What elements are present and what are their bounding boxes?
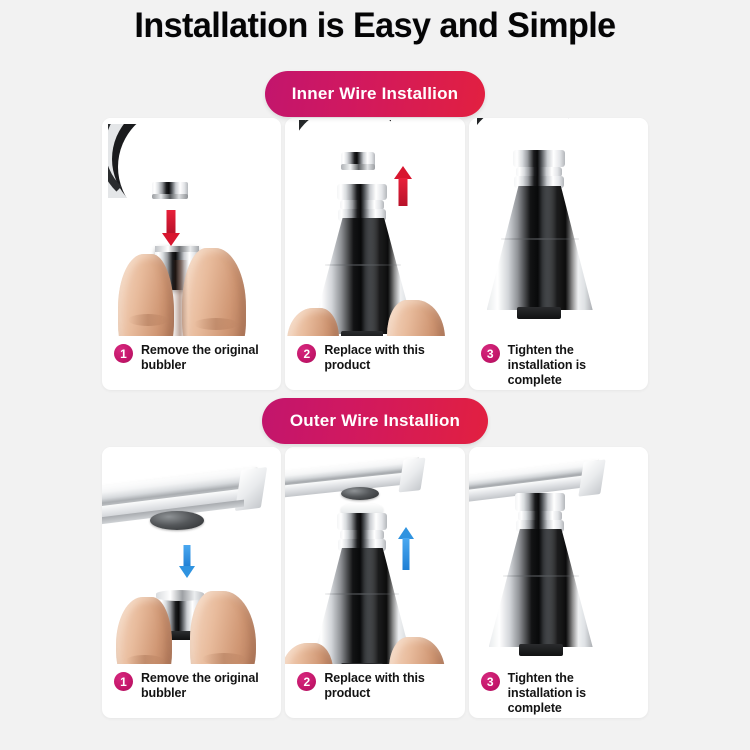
knuckle-crease-left [128, 314, 168, 326]
page-title: Installation is Easy and Simple [11, 6, 739, 46]
spout-thread-ring [152, 194, 188, 199]
step-number-badge: 1 [114, 672, 133, 691]
direction-arrow-down [159, 210, 183, 246]
section-badge-inner-wire[interactable]: Inner Wire Installion [265, 71, 485, 117]
step-card[interactable]: 2 Replace with this product [285, 118, 464, 390]
step-image-remove-bubbler-outer [102, 447, 281, 664]
steps-row-outer-wire: 1 Remove the original bubbler [102, 447, 648, 718]
step-caption-text: Tighten the installation is complete [508, 671, 640, 716]
spout-thread-ring [341, 164, 375, 170]
nozzle-outlet [519, 644, 563, 656]
step-caption: 1 Remove the original bubbler [102, 664, 281, 718]
direction-arrow-down [176, 545, 198, 581]
step-caption: 2 Replace with this product [285, 664, 464, 718]
cone-seam [325, 593, 399, 595]
knuckle-crease-left [126, 655, 164, 664]
step-caption-text: Remove the original bubbler [141, 671, 273, 701]
step-caption: 3 Tighten the installation is complete [469, 336, 648, 390]
faucet-outlet-hole [150, 511, 204, 530]
step-card[interactable]: 1 Remove the original bubbler [102, 118, 281, 390]
step-image-tighten-complete-outer [469, 447, 648, 664]
knuckle-crease-right [202, 653, 246, 664]
nozzle-outlet [341, 663, 383, 664]
product-infographic: Installation is Easy and Simple Inner Wi… [0, 0, 750, 750]
steps-row-inner-wire: 1 Remove the original bubbler [102, 118, 648, 390]
attachment-collar-top [337, 184, 387, 200]
step-number-badge: 2 [297, 344, 316, 363]
faucet-end-cap [399, 458, 426, 493]
cone-body [487, 186, 593, 310]
attachment-collar-top [513, 150, 565, 167]
finger-gap-shadow [172, 260, 188, 336]
step-caption: 3 Tighten the installation is complete [469, 664, 648, 718]
knuckle-crease-right [194, 318, 238, 330]
step-card[interactable]: 3 Tighten the installation is complete [469, 447, 648, 718]
direction-arrow-up [391, 166, 415, 208]
finger-right [387, 300, 445, 336]
step-caption-text: Remove the original bubbler [141, 343, 273, 373]
bubbler-top-edge [155, 246, 199, 252]
step-number-badge: 3 [481, 344, 500, 363]
nozzle-outlet [517, 307, 561, 319]
direction-arrow-up [395, 527, 417, 571]
step-number-badge: 1 [114, 344, 133, 363]
attachment-collar-top [337, 513, 387, 530]
step-image-remove-bubbler-inner [102, 118, 281, 336]
step-card[interactable]: 3 Tighten the installation is complete [469, 118, 648, 390]
step-image-replace-product-outer [285, 447, 464, 664]
cone-body [489, 529, 593, 647]
step-caption-text: Replace with this product [324, 671, 456, 701]
step-image-replace-product-inner [285, 118, 464, 336]
finger-right [389, 637, 445, 664]
cone-seam [503, 575, 579, 577]
step-caption: 2 Replace with this product [285, 336, 464, 390]
section-badge-outer-wire[interactable]: Outer Wire Installion [262, 398, 488, 444]
step-card[interactable]: 1 Remove the original bubbler [102, 447, 281, 718]
step-caption-text: Tighten the installation is complete [508, 343, 640, 388]
bubbler-top-edge [156, 590, 204, 601]
cone-seam [325, 264, 401, 266]
step-image-tighten-complete-inner [469, 118, 648, 336]
faucet-outlet-hole [341, 487, 379, 500]
finger-left [116, 597, 172, 664]
cone-seam [501, 238, 579, 240]
step-caption-text: Replace with this product [324, 343, 456, 373]
step-number-badge: 2 [297, 672, 316, 691]
step-caption: 1 Remove the original bubbler [102, 336, 281, 390]
step-card[interactable]: 2 Replace with this product [285, 447, 464, 718]
nozzle-outlet [341, 331, 383, 336]
attachment-collar-top [515, 493, 565, 511]
step-number-badge: 3 [481, 672, 500, 691]
